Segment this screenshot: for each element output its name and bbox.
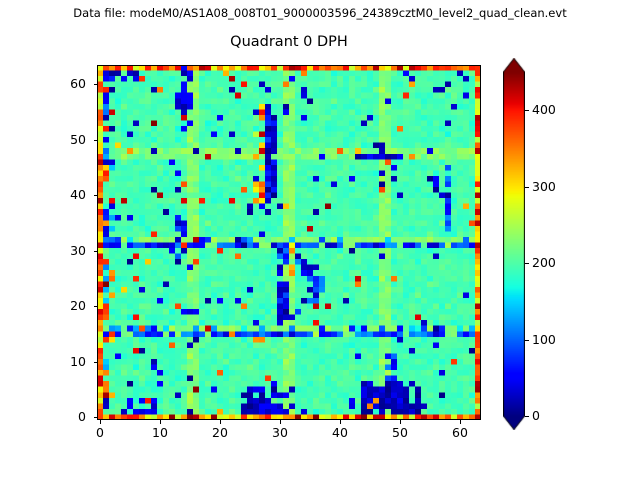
y-tick-mark (94, 84, 98, 85)
colorbar-tick-mark (525, 110, 529, 111)
x-tick-label: 60 (440, 426, 480, 440)
colorbar-tick-mark (525, 263, 529, 264)
colorbar-tick-label: 100 (532, 333, 556, 347)
colorbar-tick-label: 0 (532, 409, 540, 423)
colorbar-tick-mark (525, 187, 529, 188)
colorbar-tick-label: 300 (532, 180, 556, 194)
colorbar-tick-mark (525, 340, 529, 341)
y-tick-mark (94, 417, 98, 418)
y-tick-mark (94, 140, 98, 141)
plot-title: Quadrant 0 DPH (97, 33, 481, 51)
x-tick-label: 20 (200, 426, 240, 440)
colorbar-tick-label: 400 (532, 103, 556, 117)
colorbar[interactable]: 0100200300400 (503, 58, 623, 430)
colorbar-gradient[interactable] (503, 58, 525, 430)
x-tick-label: 30 (260, 426, 300, 440)
colorbar-tick-label: 200 (532, 256, 556, 270)
axes-spine-right (480, 65, 481, 420)
y-tick-mark (94, 306, 98, 307)
y-tick-label: 50 (46, 133, 86, 147)
matplotlib-figure: Data file: modeM0/AS1A08_008T01_90000035… (0, 0, 640, 480)
x-tick-mark (100, 420, 101, 424)
y-tick-label: 20 (46, 299, 86, 313)
axes-spine-bottom (97, 419, 481, 420)
x-tick-label: 40 (320, 426, 360, 440)
x-tick-label: 0 (80, 426, 120, 440)
y-tick-label: 30 (46, 244, 86, 258)
x-tick-mark (400, 420, 401, 424)
y-tick-mark (94, 195, 98, 196)
x-tick-label: 50 (380, 426, 420, 440)
data-file-caption: Data file: modeM0/AS1A08_008T01_90000035… (0, 6, 640, 20)
x-tick-mark (160, 420, 161, 424)
x-tick-mark (340, 420, 341, 424)
y-tick-mark (94, 251, 98, 252)
axes-spine-top (97, 65, 481, 66)
x-tick-label: 10 (140, 426, 180, 440)
heatmap-image[interactable] (97, 65, 481, 420)
x-tick-mark (460, 420, 461, 424)
colorbar-tick-mark (525, 416, 529, 417)
y-tick-mark (94, 362, 98, 363)
axes-spine-left (97, 65, 98, 420)
y-tick-label: 60 (46, 77, 86, 91)
x-tick-mark (220, 420, 221, 424)
y-tick-label: 40 (46, 188, 86, 202)
y-tick-label: 0 (46, 410, 86, 424)
x-tick-mark (280, 420, 281, 424)
heatmap-axes[interactable] (97, 65, 481, 420)
y-tick-label: 10 (46, 355, 86, 369)
